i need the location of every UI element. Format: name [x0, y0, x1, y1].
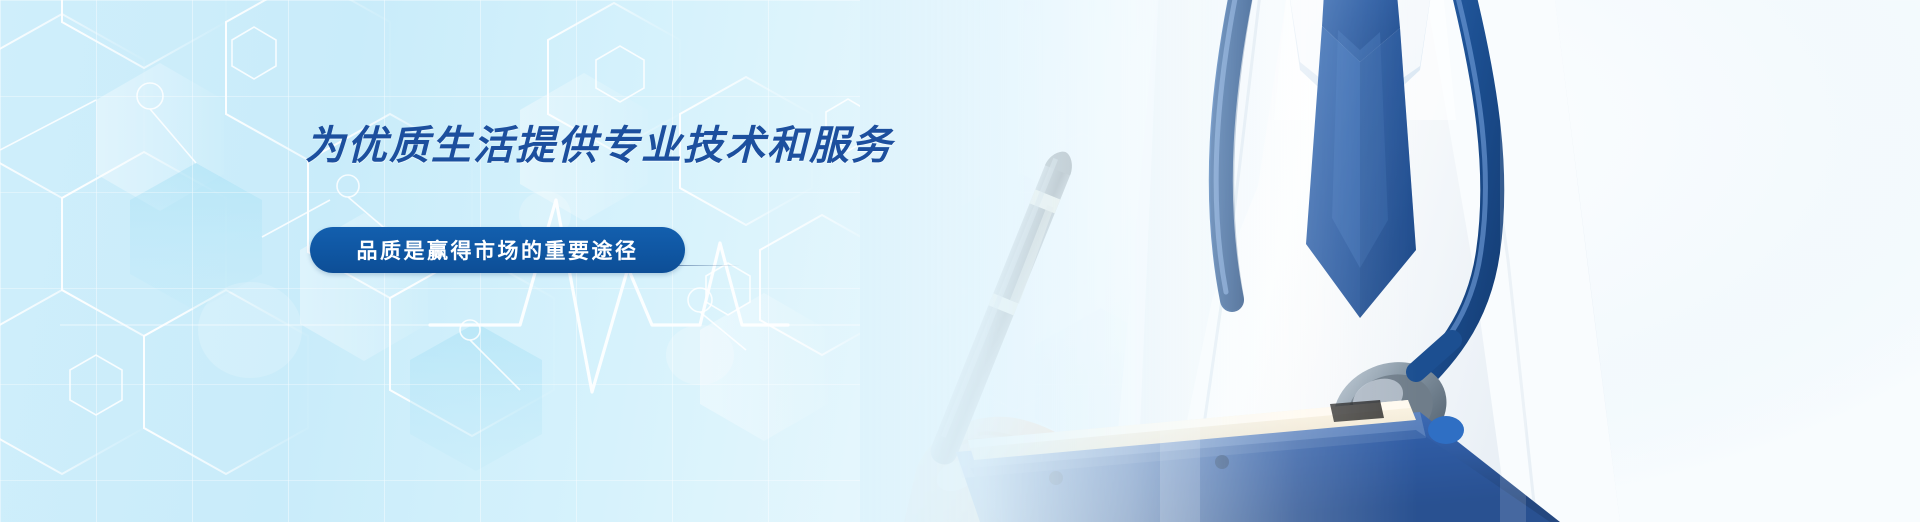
banner-headline: 为优质生活提供专业技术和服务 [305, 122, 893, 170]
doctor-photo [860, 0, 1920, 522]
photo-left-fade [860, 0, 1420, 522]
slogan-pill-button[interactable]: 品质是赢得市场的重要途径 [310, 227, 685, 273]
slogan-pill-label: 品质是赢得市场的重要途径 [357, 235, 639, 265]
banner-copy: 为优质生活提供专业技术和服务 Quality wins Future 品质是赢得… [0, 0, 900, 522]
medical-hero-banner: 为优质生活提供专业技术和服务 Quality wins Future 品质是赢得… [0, 0, 1920, 522]
